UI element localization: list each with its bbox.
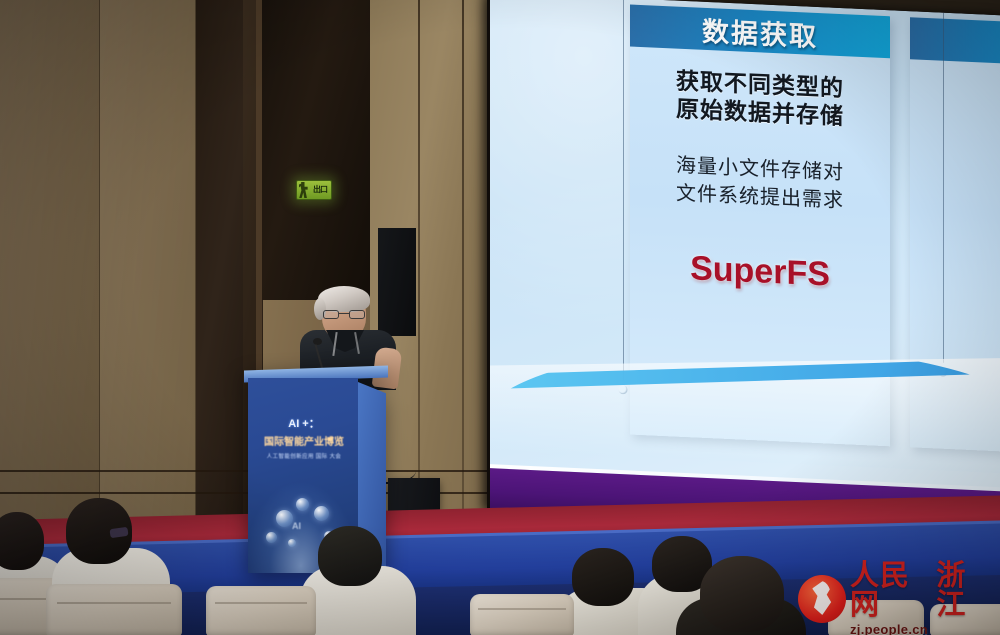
lectern-sphere-2	[296, 498, 309, 511]
running-person-exit-icon	[299, 182, 311, 198]
card-header-title: 数据获取	[702, 9, 818, 53]
projection-screen: 数据获取 获取不同类型的 原始数据并存储 海量小文件存储对 文件系统提出需求 S…	[487, 0, 1000, 534]
wall-panel-2	[100, 0, 196, 560]
emergency-exit-sign: 出口	[296, 180, 332, 200]
lectern-logo-cn: 国际智能产业博览	[264, 433, 344, 448]
screenshot-root: 出口 数据获取 获取不同类型的 原始数据并存储 海量小文件存储对 文件系统提出需…	[0, 0, 1000, 635]
watermark: 人民网 浙江 zj.people.cn	[798, 568, 994, 630]
audience-chair-4	[470, 594, 574, 635]
audience-member-4-head	[572, 548, 634, 606]
audience-member-6-head	[700, 556, 784, 632]
pin-tether-line-left	[623, 0, 624, 380]
watermark-url: zj.people.cn	[850, 623, 994, 635]
map-pin-left-group	[610, 0, 636, 381]
lectern-sphere-4	[266, 532, 277, 543]
lectern-sphere-1	[276, 510, 293, 527]
lectern-sphere-3	[314, 506, 329, 521]
card-brand-superfs: SuperFS	[644, 247, 876, 297]
watermark-text: 人民网 浙江 zj.people.cn	[850, 562, 994, 635]
audience-member-3-head	[318, 526, 382, 586]
doorway-recess	[256, 0, 376, 300]
exit-sign-label: 出口	[313, 186, 327, 194]
card-body: 获取不同类型的 原始数据并存储 海量小文件存储对 文件系统提出需求 SuperF…	[630, 46, 890, 297]
watermark-brand: 人民网	[850, 562, 936, 620]
pin-tether-line-right	[943, 13, 944, 363]
wall-panel-1	[0, 0, 100, 560]
map-pin-right-group	[930, 12, 956, 363]
audience-chair-3	[206, 586, 316, 635]
people-cn-logo-icon	[798, 575, 846, 623]
watermark-region: 浙江	[936, 562, 994, 620]
wall-groove-1	[418, 0, 420, 560]
audience-member-1-head	[0, 512, 44, 570]
wall-groove-2	[462, 0, 464, 560]
audience-chair-2	[46, 584, 182, 635]
lectern-logo-ai: AI +：	[288, 418, 319, 430]
lectern-logo: AI +：国际智能产业博览 人工智能创新应用 国际 大会	[254, 414, 354, 460]
lectern-sphere-6	[288, 539, 296, 547]
lectern-logo-subtitle: 人工智能创新应用 国际 大会	[254, 452, 354, 460]
lectern-graphic-label: AI	[292, 521, 301, 531]
presentation-slide: 数据获取 获取不同类型的 原始数据并存储 海量小文件存储对 文件系统提出需求 S…	[490, 0, 1000, 534]
presenter-glasses-icon	[323, 310, 365, 319]
